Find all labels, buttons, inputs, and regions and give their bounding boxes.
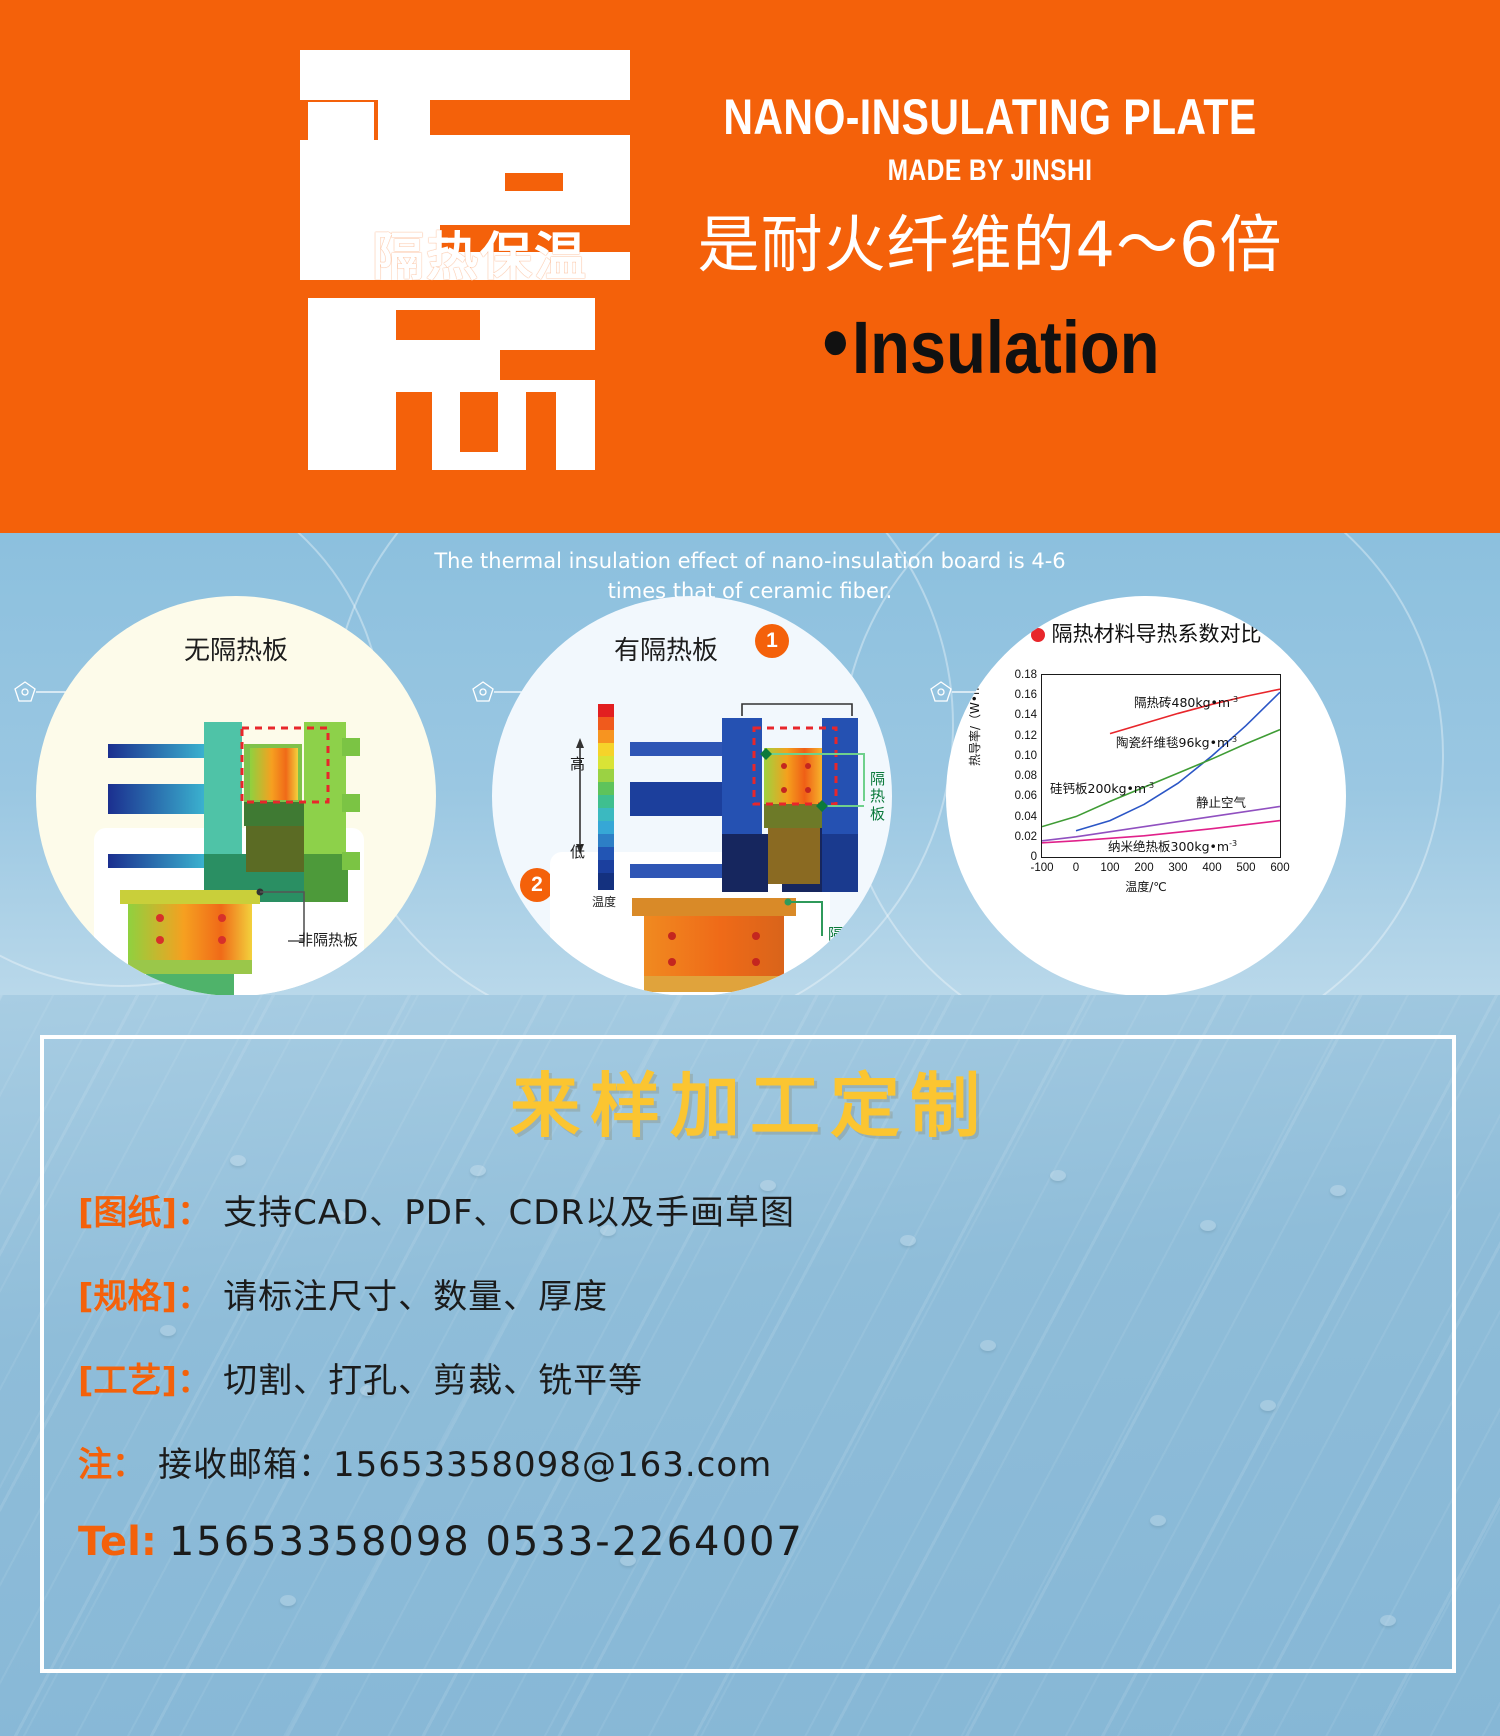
info-value-email[interactable]: 接收邮箱：15653358098@163.com — [158, 1437, 772, 1486]
info-value-drawing: 支持CAD、PDF、CDR以及手画草图 — [223, 1185, 795, 1234]
subtitle-line-1: The thermal insulation effect of nano-in… — [360, 546, 1140, 576]
conductivity-chart-card: 隔热材料导热系数对比 热导率/（W•m⁻¹•K⁻¹） 0 0.02 0.04 0… — [946, 596, 1346, 995]
chart-title-dot-icon — [1031, 628, 1045, 642]
chart-series-label-brick: 隔热砖480kg•m-3 — [1134, 692, 1238, 711]
chart-ytick: 0.08 — [1015, 770, 1037, 782]
chart-ytick: 0.06 — [1015, 790, 1037, 802]
chart-xtick: 500 — [1236, 862, 1255, 874]
chart-ytick: 0.18 — [1015, 669, 1037, 681]
chart-title-text: 隔热材料导热系数对比 — [1052, 622, 1262, 646]
chart-xtick: -100 — [1030, 862, 1053, 874]
info-row-email[interactable]: 注： 接收邮箱：15653358098@163.com — [78, 1437, 772, 1486]
chart-title: 隔热材料导热系数对比 — [946, 618, 1346, 648]
info-row-drawing: [图纸]： 支持CAD、PDF、CDR以及手画草图 — [78, 1185, 795, 1234]
info-key-drawing: [图纸]： — [78, 1185, 211, 1234]
diagram-with-insulation: 有隔热板 1 2 — [492, 596, 892, 995]
info-row-spec: [规格]： 请标注尺寸、数量、厚度 — [78, 1269, 608, 1318]
info-key-tel: Tel: — [78, 1519, 157, 1565]
chart-ytick: 0.02 — [1015, 831, 1037, 843]
logo-chinese-label: 隔热保温 — [300, 215, 660, 290]
chart-xtick: 300 — [1168, 862, 1187, 874]
info-row-tel[interactable]: Tel: 15653358098 0533-2264007 — [78, 1519, 804, 1565]
chart-xtick: 200 — [1134, 862, 1153, 874]
callout-non-insulation-label: 非隔热板 — [298, 932, 358, 949]
customization-section: 来样加工定制 [图纸]： 支持CAD、PDF、CDR以及手画草图 [规格]： 请… — [0, 995, 1500, 1736]
chart-series-label-ceramic: 陶瓷纤维毯96kg•m-3 — [1116, 732, 1237, 751]
info-value-process: 切割、打孔、剪裁、铣平等 — [223, 1353, 643, 1402]
headline-chinese: 是耐火纤维的4～6倍 — [640, 212, 1340, 277]
chart-ytick: 0.10 — [1015, 750, 1037, 762]
chart-series-label-calcium: 硅钙板200kg•m-3 — [1050, 778, 1154, 797]
product-title-en: NANO-INSULATING PLATE — [703, 92, 1277, 142]
chart-y-axis-label: 热导率/（W•m⁻¹•K⁻¹） — [966, 634, 983, 766]
info-value-spec: 请标注尺寸、数量、厚度 — [223, 1269, 608, 1318]
chart-xtick: 100 — [1100, 862, 1119, 874]
callout-insulation-top-label: 隔热板 — [870, 771, 888, 823]
info-value-tel[interactable]: 15653358098 0533-2264007 — [169, 1519, 804, 1565]
info-key-process: [工艺]： — [78, 1353, 211, 1402]
chart-x-axis-label: 温度/℃ — [946, 878, 1346, 895]
insulation-word: Insulation — [852, 306, 1160, 389]
bullet-dot-icon: ● — [820, 308, 850, 371]
chart-ytick: 0.12 — [1015, 730, 1037, 742]
chart-xtick: 400 — [1202, 862, 1221, 874]
thermal-sim-green-icon — [36, 596, 436, 995]
info-key-spec: [规格]： — [78, 1269, 211, 1318]
product-poster: 隔热保温 NANO-INSULATING PLATE MADE BY JINSH… — [0, 0, 1500, 1736]
legend-low-label: 低 — [570, 844, 586, 861]
chart-ytick: 0.14 — [1015, 709, 1037, 721]
insulation-wordmark: ●Insulation — [682, 311, 1298, 385]
chart-xtick: 0 — [1073, 862, 1079, 874]
chart-series-label-air: 静止空气 — [1196, 792, 1246, 811]
legend-high-label: 高 — [570, 756, 586, 773]
product-maker-en: MADE BY JINSHI — [703, 156, 1277, 186]
chart-xtick: 600 — [1270, 862, 1289, 874]
info-key-note: 注： — [78, 1437, 146, 1486]
chart-ytick: 0.04 — [1015, 811, 1037, 823]
header-banner: 隔热保温 NANO-INSULATING PLATE MADE BY JINSH… — [0, 0, 1500, 533]
chart-series-label-nano: 纳米绝热板300kg•m-3 — [1108, 836, 1237, 855]
diagram-no-insulation: 无隔热板 — [36, 596, 436, 995]
legend-temperature-caption: 温度 — [592, 896, 622, 910]
customization-title: 来样加工定制 — [0, 1050, 1500, 1151]
callout-insulation-bottom-label: 隔热板 — [828, 926, 873, 943]
info-row-process: [工艺]： 切割、打孔、剪裁、铣平等 — [78, 1353, 643, 1402]
comparison-section: The thermal insulation effect of nano-in… — [0, 533, 1500, 995]
header-text-block: NANO-INSULATING PLATE MADE BY JINSHI 是耐火… — [640, 92, 1340, 385]
chart-ytick: 0.16 — [1015, 689, 1037, 701]
